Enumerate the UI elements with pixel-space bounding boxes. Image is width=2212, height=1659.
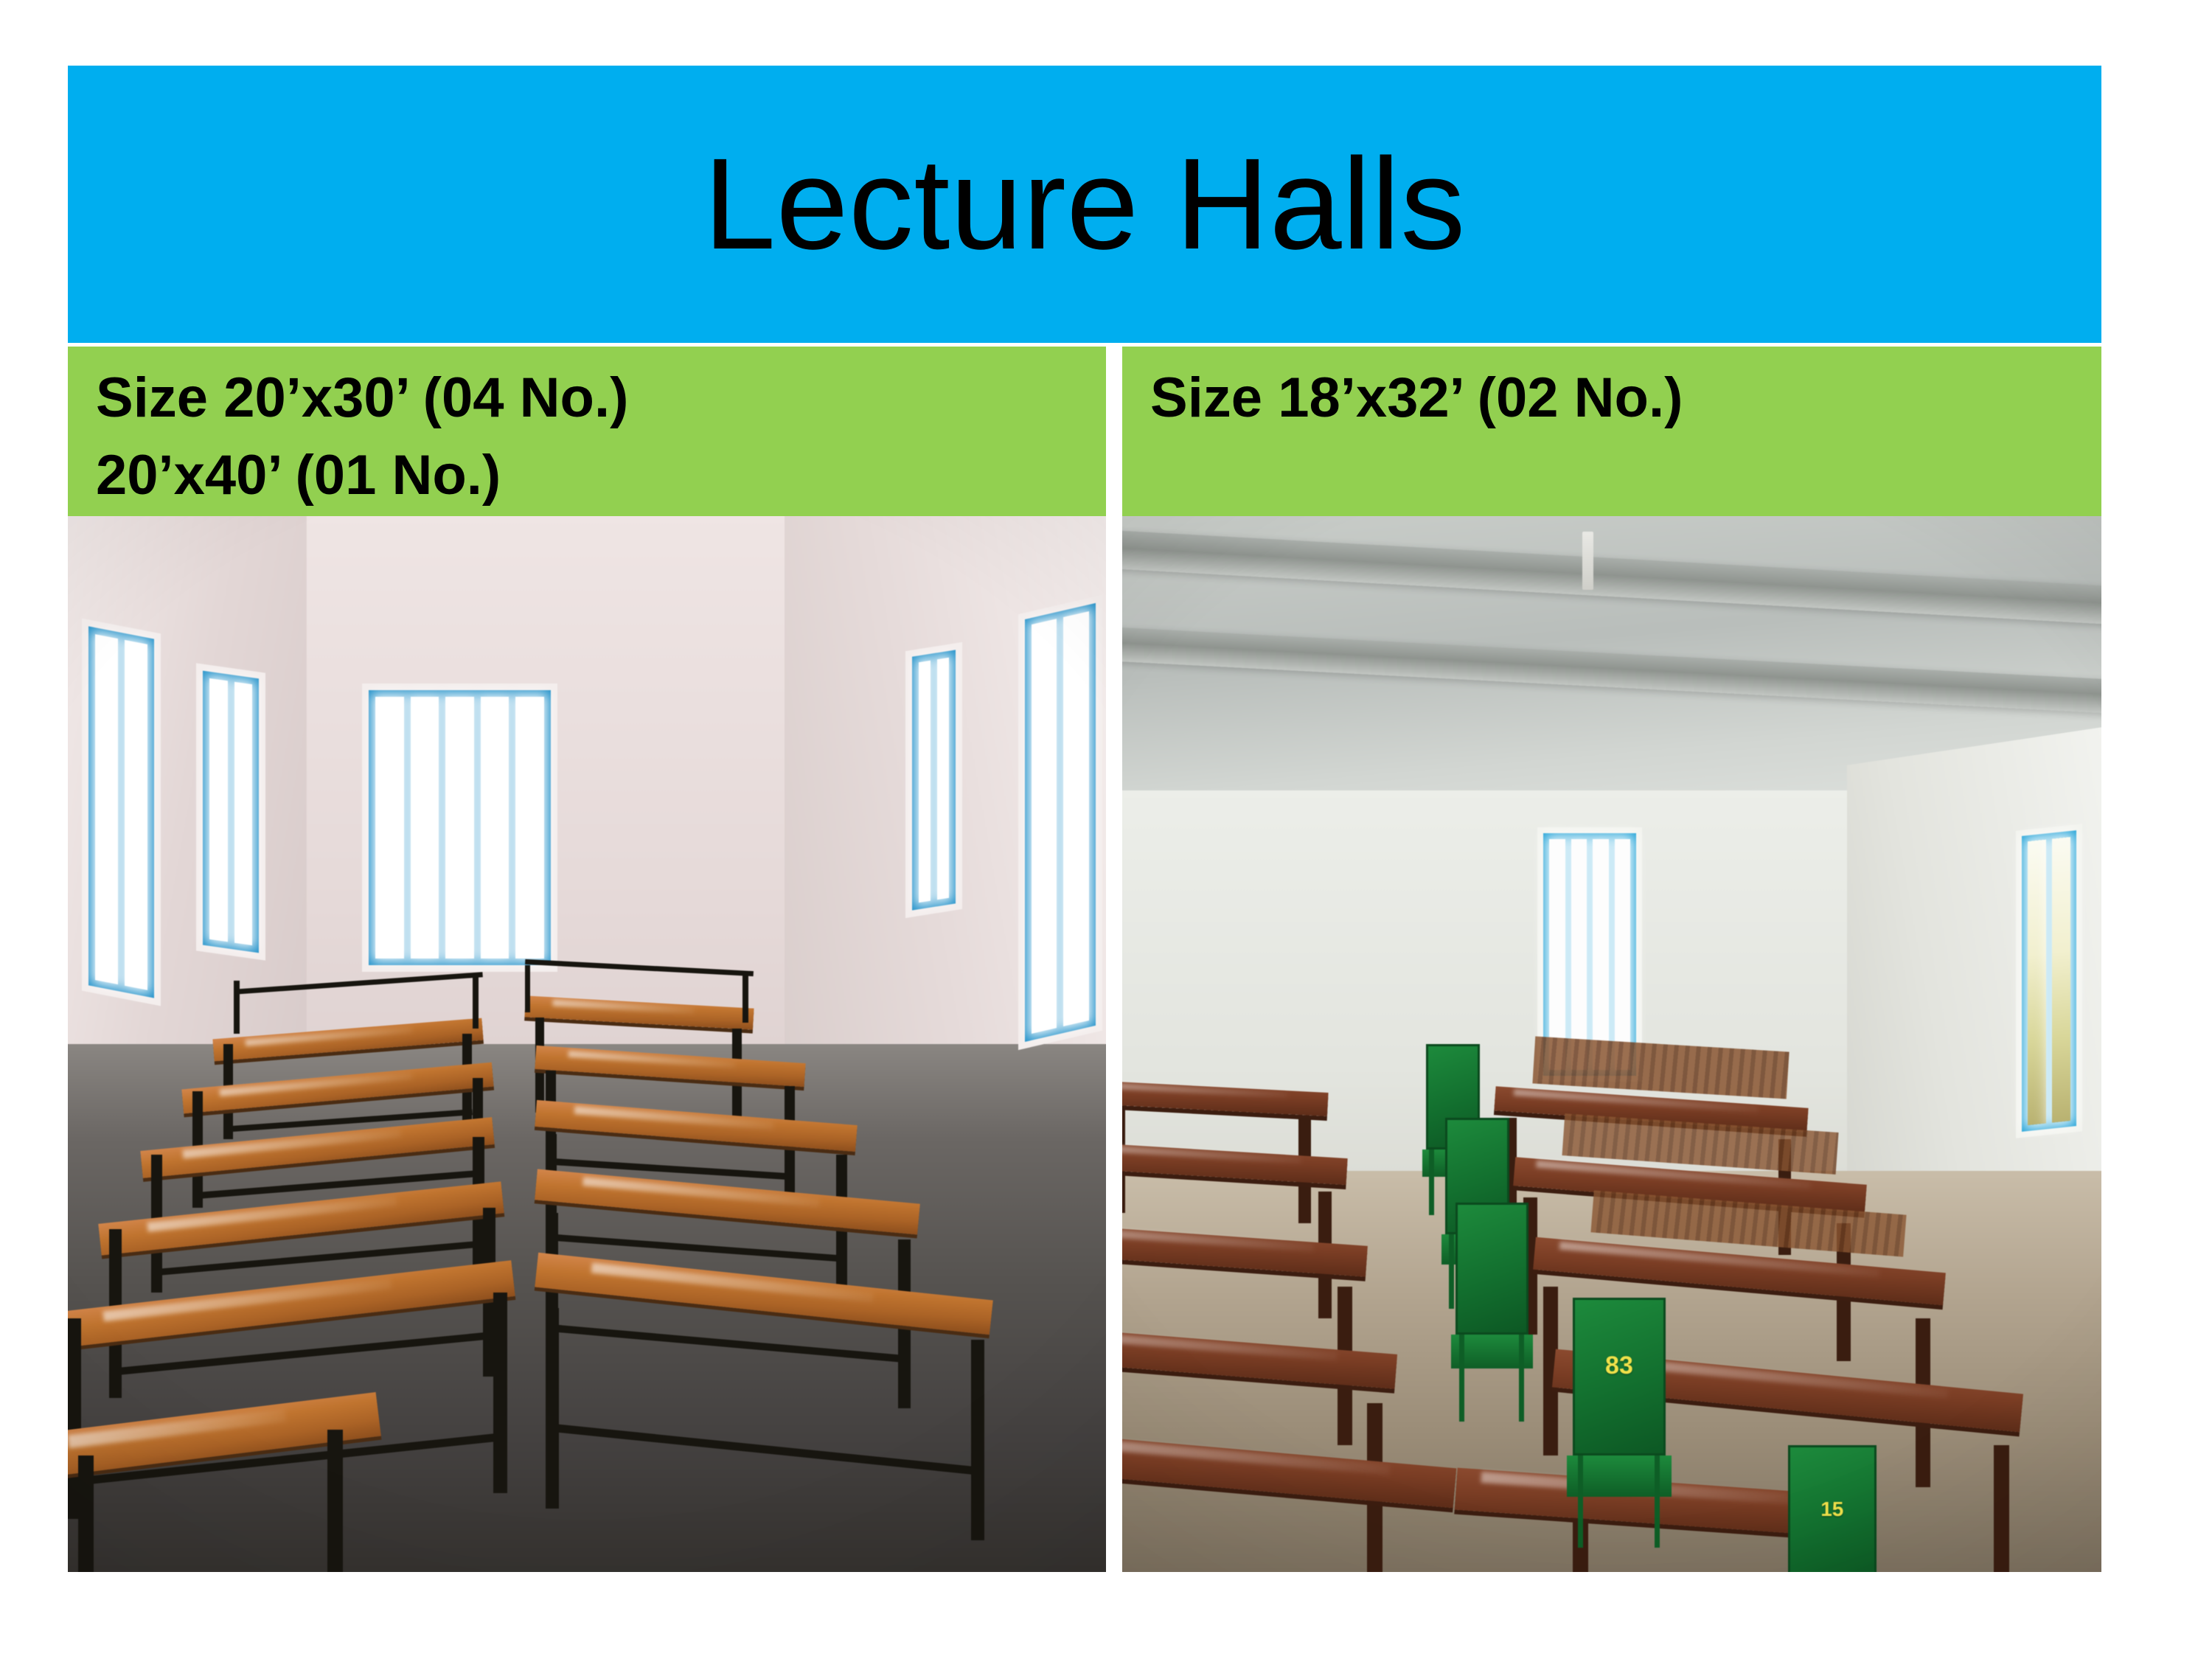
right-ceiling-lamp-fitting	[1582, 532, 1593, 590]
left-window-2	[203, 670, 259, 953]
right-scene: 83 15	[1122, 516, 2101, 1572]
page-title: Lecture Halls	[703, 139, 1466, 269]
left-window-1	[88, 626, 154, 998]
right-chair-numbered: 15	[1788, 1445, 1877, 1572]
left-window-3	[912, 650, 956, 910]
chair-number-label: 83	[1573, 1352, 1666, 1380]
slide-canvas: Lecture Halls Size 20’x30’ (04 No.) 20’x…	[0, 0, 2212, 1659]
title-band: Lecture Halls	[68, 66, 2101, 343]
left-window-4	[1025, 603, 1096, 1042]
left-scene	[68, 516, 1106, 1572]
photo-left-lecture-hall	[68, 516, 1106, 1572]
caption-bar-right: Size 18’x32’ (02 No.)	[1122, 347, 2101, 516]
photo-right-lecture-hall: 83 15	[1122, 516, 2101, 1572]
right-chair-numbered: 83	[1573, 1298, 1666, 1456]
left-window-back	[369, 690, 550, 964]
caption-bar-left: Size 20’x30’ (04 No.) 20’x40’ (01 No.)	[68, 347, 1106, 516]
caption-right-line-1: Size 18’x32’ (02 No.)	[1150, 360, 2101, 437]
caption-left-line-2: 20’x40’ (01 No.)	[96, 437, 1106, 515]
caption-left-line-1: Size 20’x30’ (04 No.)	[96, 360, 1106, 437]
right-chair	[1455, 1203, 1529, 1335]
chair-number-label: 15	[1788, 1498, 1877, 1521]
right-window-side	[2022, 830, 2076, 1132]
